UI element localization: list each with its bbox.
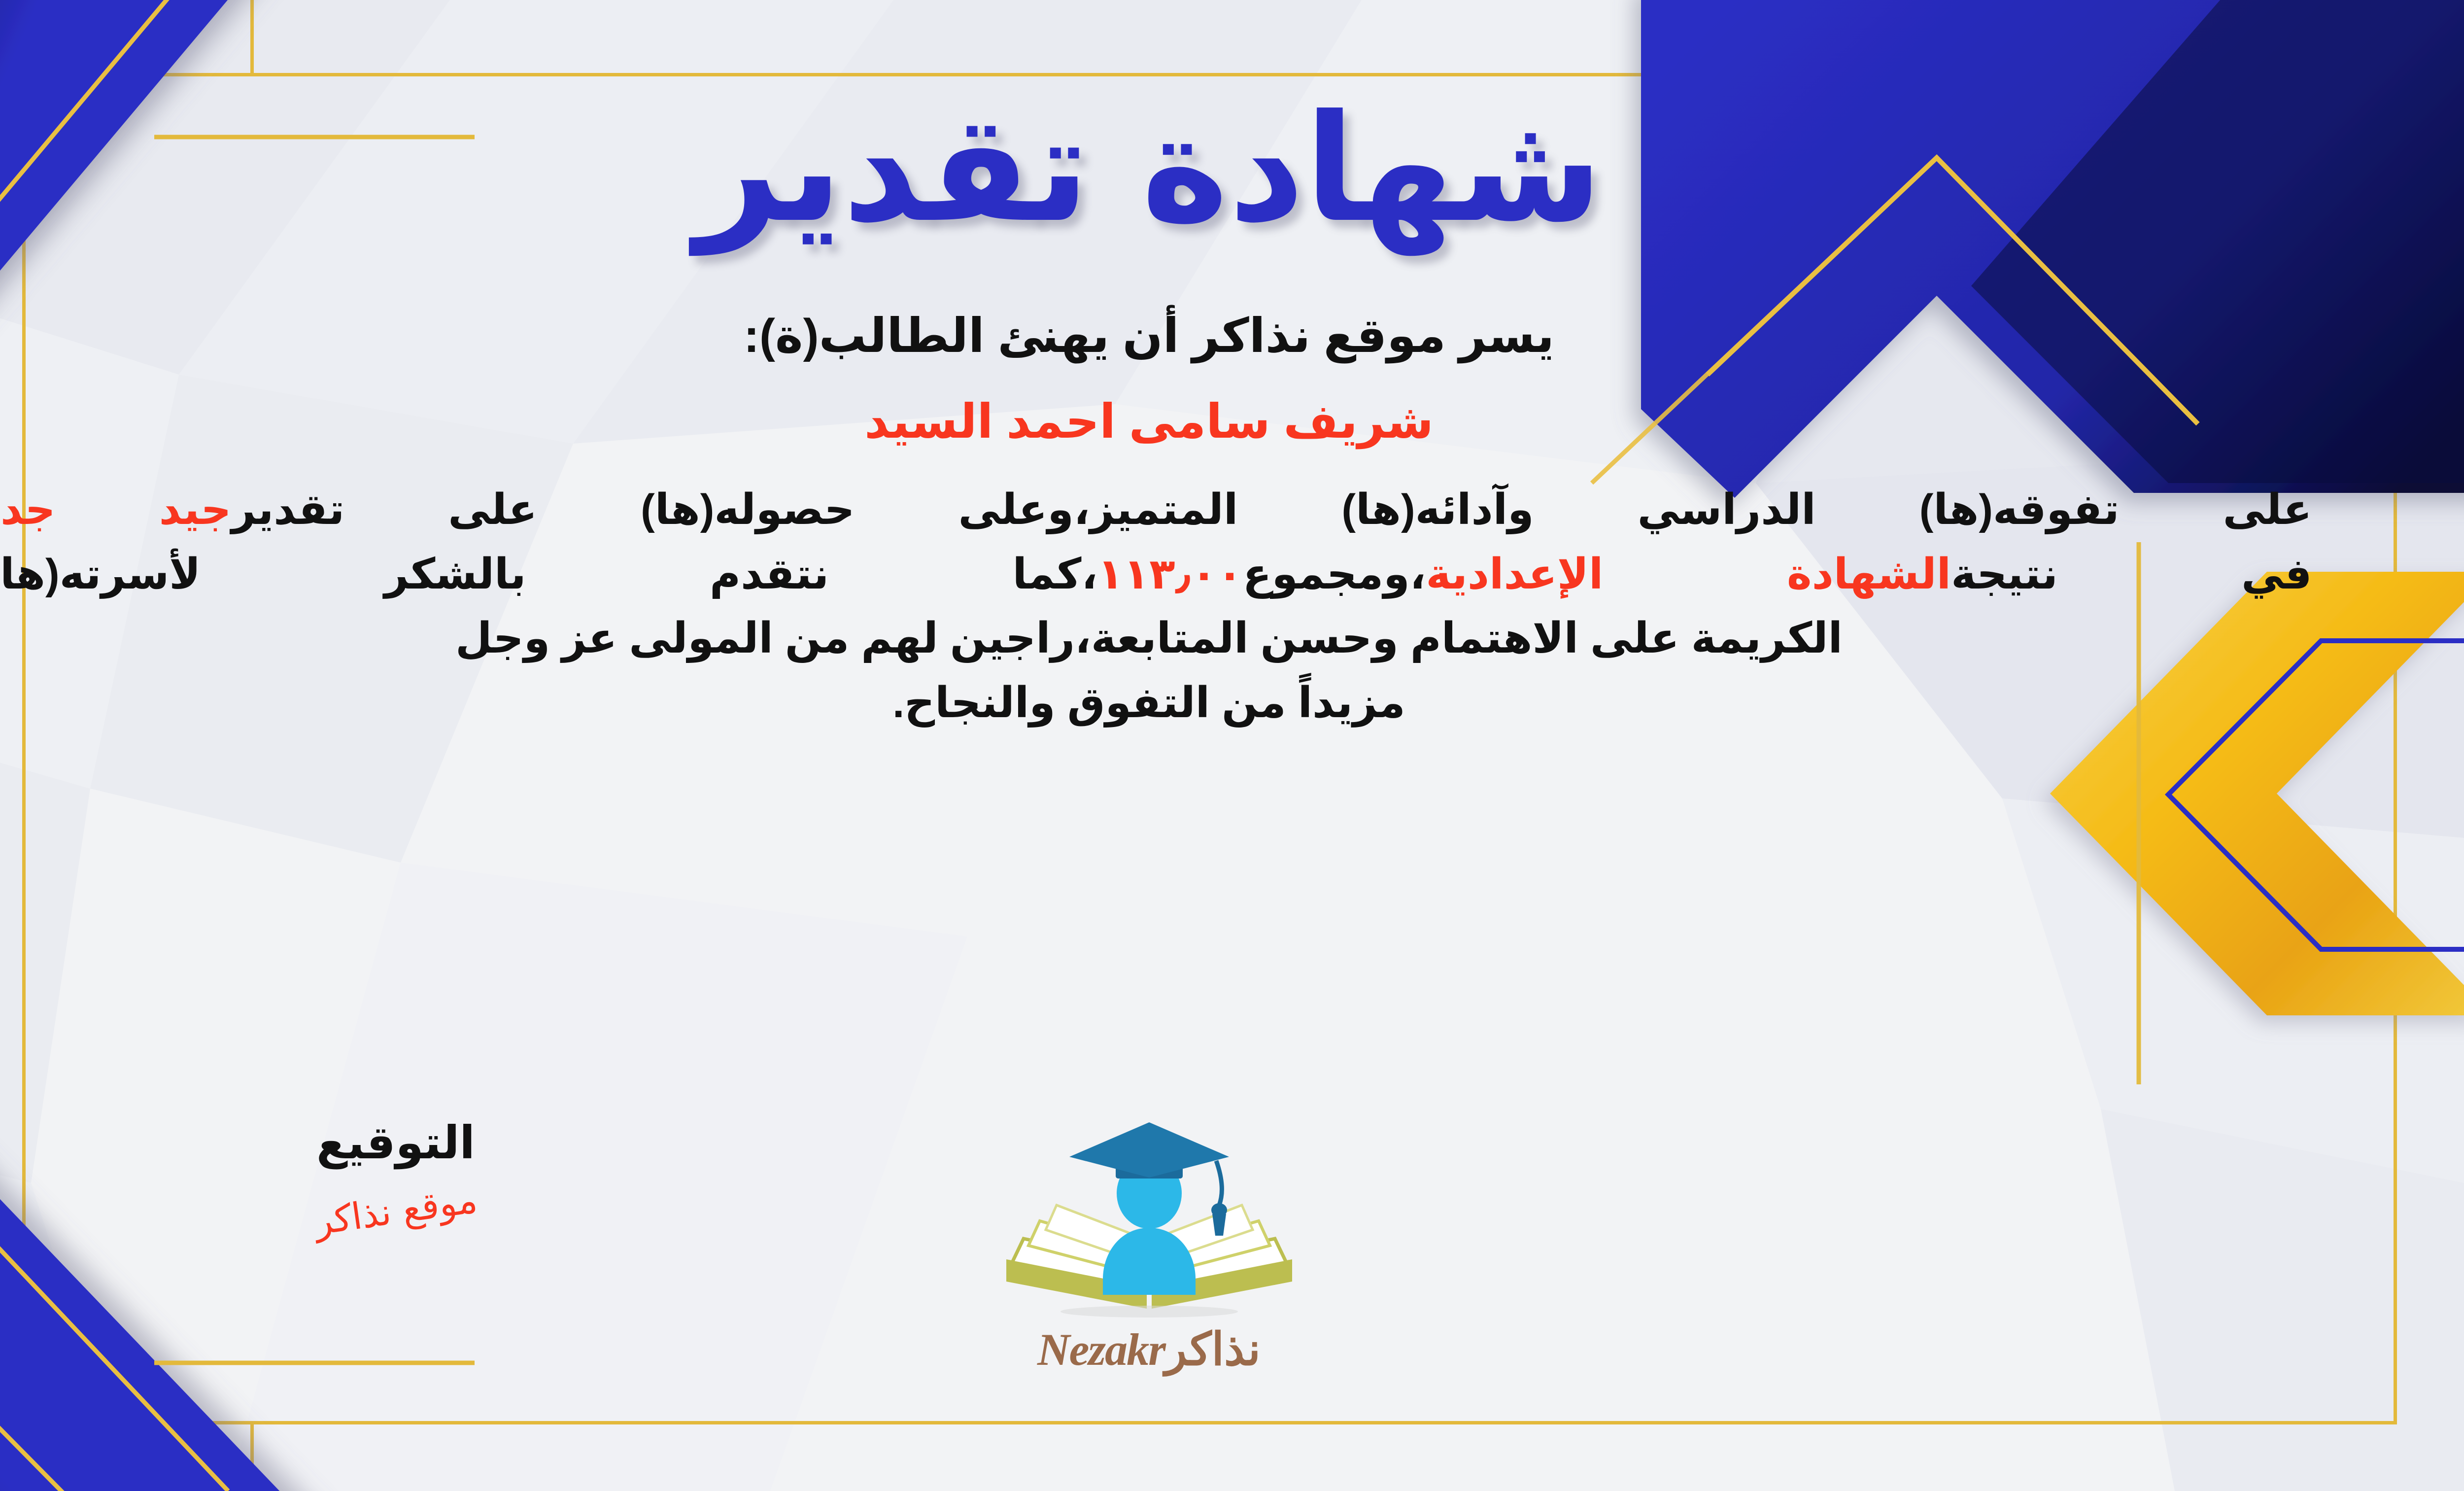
exam-name: الشهادة الإعدادية (1426, 551, 1951, 598)
brand-logo: نذاكرNezakr (927, 1111, 1371, 1376)
body-line-2-prefix: في نتيجة (1951, 551, 2312, 598)
body-line-3: الكريمة على الاهتمام وحسن المتابعة،راجين… (0, 606, 2352, 671)
brand-logo-arabic: نذاكر (1165, 1324, 1261, 1375)
grade-value: جيد جداً (0, 486, 231, 533)
certificate-footer: التوقيع موقع نذاكر (0, 1116, 2464, 1432)
signature-block: التوقيع موقع نذاكر (208, 1116, 583, 1232)
body-line-1: على تفوقه(ها) الدراسي وآدائه(ها) المتميز… (0, 478, 2352, 542)
student-name: شريف سامى احمد السيد (864, 394, 1434, 449)
brand-logo-latin: Nezakr (1037, 1324, 1165, 1375)
brand-logo-text: نذاكرNezakr (927, 1323, 1371, 1376)
certificate-page: شهادة تقدير يسر موقع نذاكر أن يهنئ الطال… (0, 0, 2464, 1491)
body-line-2-mid: ،ومجموع (1243, 551, 1426, 598)
total-score: ١١٣٫٠٠ (1097, 551, 1243, 598)
graduate-book-logo-icon (977, 1111, 1322, 1323)
body-line-2: في نتيجةالشهادة الإعدادية،ومجموع١١٣٫٠٠،ك… (0, 542, 2352, 607)
body-line-4: مزيداً من التفوق والنجاح. (0, 671, 2352, 735)
body-line-2-suffix: ،كما نتقدم بالشكر لأسرته(ها) (0, 551, 1097, 598)
signature-label: التوقيع (208, 1116, 583, 1169)
body-paragraph: على تفوقه(ها) الدراسي وآدائه(ها) المتميز… (0, 478, 2352, 735)
page-title: شهادة تقدير (695, 84, 1603, 254)
signature-value: موقع نذاكر (312, 1179, 480, 1243)
body-line-1-text: على تفوقه(ها) الدراسي وآدائه(ها) المتميز… (231, 486, 2312, 533)
intro-line: يسر موقع نذاكر أن يهنئ الطالب(ة): (744, 308, 1554, 363)
